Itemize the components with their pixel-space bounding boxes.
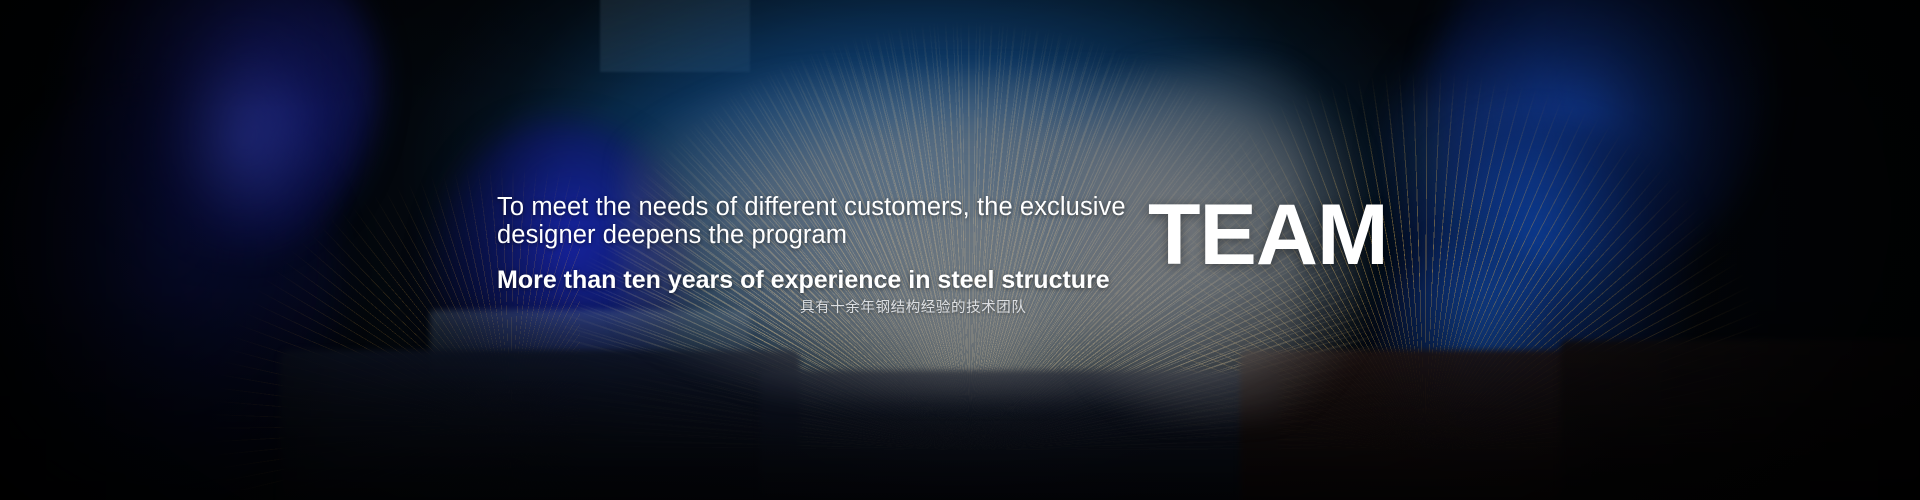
caption-line-1: To meet the needs of different customers… (497, 193, 1137, 221)
headline-team: TEAM (1148, 192, 1388, 278)
caption-emphasis: More than ten years of experience in ste… (497, 265, 1137, 295)
caption-chinese: 具有十余年钢结构经验的技术团队 (800, 298, 1027, 318)
team-hero-banner: To meet the needs of different customers… (0, 0, 1920, 500)
caption-block: To meet the needs of different customers… (497, 193, 1137, 295)
caption-line-2: designer deepens the program (497, 221, 1137, 249)
